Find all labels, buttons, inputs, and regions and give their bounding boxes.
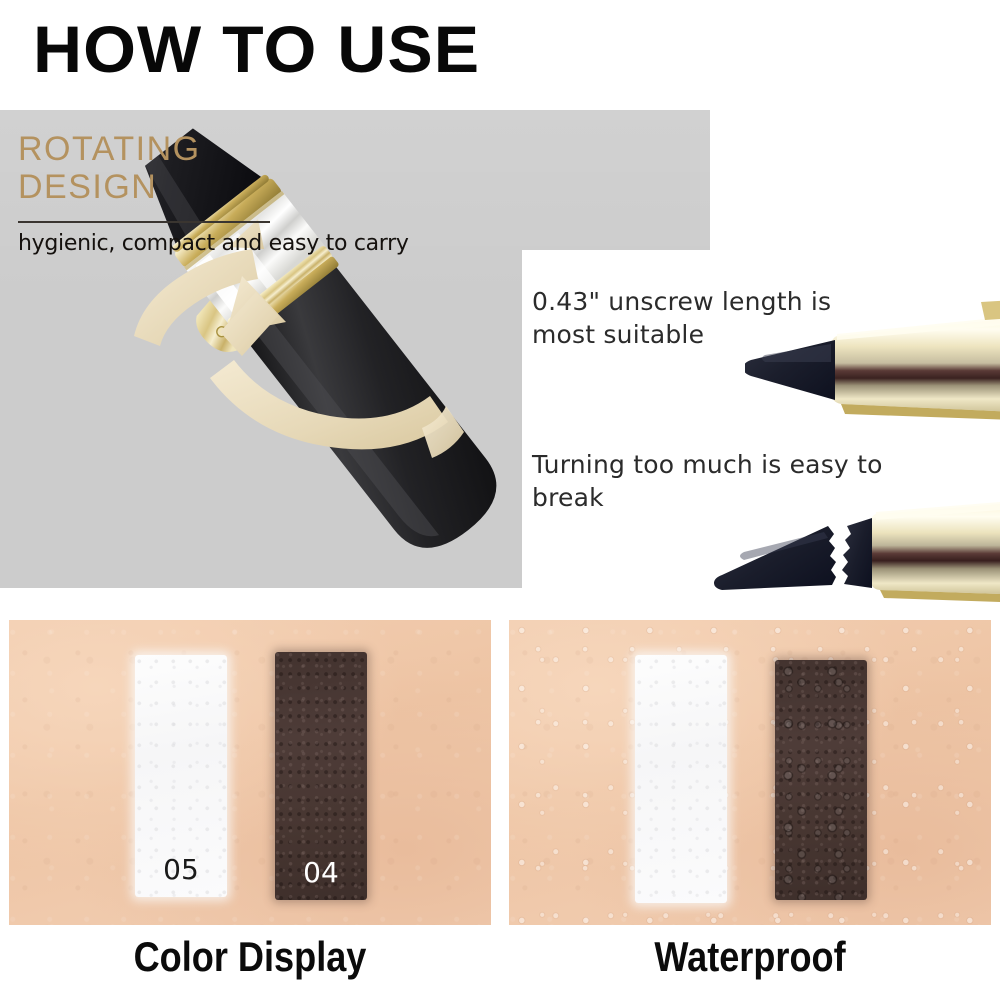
swatch-white-wet xyxy=(635,655,727,903)
page-title: HOW TO USE xyxy=(33,14,480,84)
pen-tip-stub xyxy=(842,518,872,588)
swatch-04-label: 04 xyxy=(275,858,367,888)
unscrew-length-note: 0.43" unscrew length is most suitable xyxy=(532,285,892,351)
rotating-design-subtitle: hygienic, compact and easy to carry xyxy=(18,230,409,258)
color-display-caption: Color Display xyxy=(43,928,458,990)
rotating-design-panel-bottom xyxy=(0,250,522,588)
waterproof-caption: Waterproof xyxy=(543,928,958,990)
swatch-05-label: 05 xyxy=(135,855,227,885)
swatch-05: 05 xyxy=(135,655,227,897)
pen-broken-illustration xyxy=(700,498,1000,630)
pen-cap-gold xyxy=(981,300,1000,320)
break-warning-note: Turning too much is easy to break xyxy=(532,448,892,514)
swatch-04: 04 xyxy=(275,652,367,900)
rotating-design-heading: ROTATING DESIGN xyxy=(18,130,201,206)
swatch-dark-wet xyxy=(775,660,867,900)
waterproof-panel xyxy=(509,620,991,925)
water-droplet-icon xyxy=(509,620,991,925)
product-infographic: HOW TO USE xyxy=(0,0,1000,1000)
rotating-heading-line2: DESIGN xyxy=(18,168,201,206)
skin-background xyxy=(9,620,491,925)
rotating-heading-line1: ROTATING xyxy=(18,130,201,168)
color-display-panel: 05 04 xyxy=(9,620,491,925)
heading-divider xyxy=(18,221,270,223)
